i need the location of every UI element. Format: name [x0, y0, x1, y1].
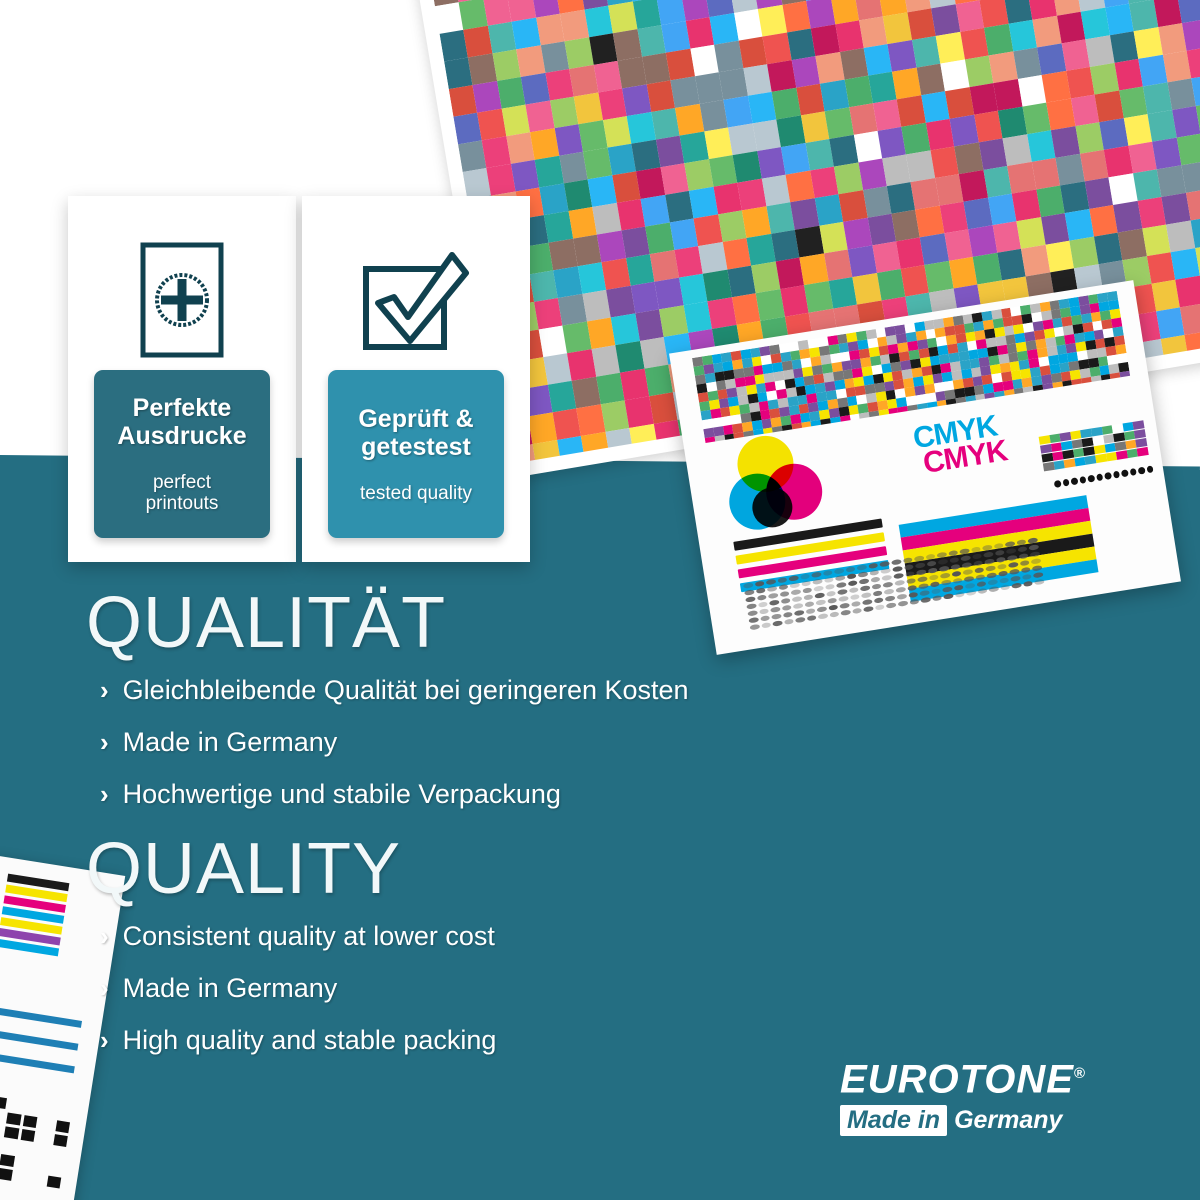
- bullet-item: › Consistent quality at lower cost: [100, 921, 966, 951]
- halftone-dot: [789, 575, 799, 581]
- small-block: [1137, 447, 1149, 457]
- badge-subtitle: perfect printouts: [146, 472, 219, 514]
- corner-block: [16, 1157, 31, 1170]
- halftone-dot: [880, 561, 890, 567]
- halftone-dot: [996, 557, 1006, 563]
- halftone-dot: [939, 566, 949, 572]
- corner-block: [57, 1106, 72, 1119]
- noise-patch: [1120, 371, 1130, 381]
- halftone-dot: [834, 568, 844, 574]
- bullet-text: Made in Germany: [123, 973, 338, 1003]
- product-marketing-banner: CMYK CMYK: [0, 0, 1200, 1200]
- halftone-dot: [989, 586, 999, 592]
- halftone-dot: [1032, 565, 1042, 571]
- dot: [1054, 480, 1062, 488]
- bullet-item: › Gleichbleibende Qualität bei geringere…: [100, 675, 966, 705]
- badge-title: Perfekte Ausdrucke: [117, 394, 246, 450]
- corner-block: [0, 1096, 7, 1109]
- corner-rule-3: [0, 1049, 75, 1073]
- color-swatch: [1165, 363, 1194, 395]
- halftone-dot: [1033, 572, 1043, 578]
- corner-block: [25, 1101, 40, 1114]
- halftone-dot: [891, 559, 901, 565]
- corner-rule-1: [0, 1004, 82, 1028]
- color-swatch: [1189, 359, 1200, 391]
- halftone-dot: [1011, 575, 1021, 581]
- halftone-dot: [940, 572, 950, 578]
- halftone-dot: [964, 576, 974, 582]
- halftone-dot: [824, 577, 834, 583]
- halftone-dot: [963, 569, 973, 575]
- halftone-dot: [1022, 574, 1032, 580]
- halftone-dot: [835, 575, 845, 581]
- dot: [1079, 476, 1087, 484]
- corner-block: [23, 1115, 38, 1128]
- corner-block: [32, 1159, 47, 1172]
- corner-block: [0, 1110, 5, 1123]
- halftone-dot: [903, 557, 913, 563]
- printed-page-registration-mark-icon: [139, 230, 225, 370]
- corner-block: [9, 1099, 24, 1112]
- halftone-dot: [1008, 562, 1018, 568]
- halftone-dot: [917, 576, 927, 582]
- checkbox-checkmark-icon: [360, 230, 472, 370]
- corner-rule-2: [0, 1026, 78, 1050]
- halftone-dot: [937, 552, 947, 558]
- chevron-right-icon: ›: [100, 973, 109, 1003]
- halftone-dot: [1030, 551, 1040, 557]
- corner-block: [2, 1140, 17, 1153]
- corner-block: [0, 1124, 3, 1137]
- chevron-right-icon: ›: [100, 675, 109, 705]
- halftone-dot: [881, 568, 891, 574]
- dot: [1062, 479, 1070, 487]
- eurotone-logo: EUROTONE® Made inGermany: [840, 1053, 1130, 1136]
- bullet-list-en: › Consistent quality at lower cost › Mad…: [100, 921, 966, 1055]
- badge-title-line2: Ausdrucke: [117, 422, 246, 450]
- dot: [1087, 475, 1095, 483]
- halftone-dot: [938, 559, 948, 565]
- dot: [1146, 465, 1154, 473]
- bullet-list-de: › Gleichbleibende Qualität bei geringere…: [100, 675, 966, 809]
- halftone-dot: [823, 570, 833, 576]
- corner-block: [51, 1148, 66, 1161]
- bullet-text: Consistent quality at lower cost: [123, 921, 495, 951]
- halftone-dot: [961, 555, 971, 561]
- halftone-dot: [929, 574, 939, 580]
- badge-subtitle-line2: printouts: [146, 493, 219, 514]
- feature-card-perfect-printouts[interactable]: Perfekte Ausdrucke perfect printouts: [68, 196, 296, 562]
- corner-block: [0, 1138, 1, 1151]
- halftone-dot: [995, 550, 1005, 556]
- halftone-dot: [916, 569, 926, 575]
- feature-card-row: Perfekte Ausdrucke perfect printouts Gep…: [68, 196, 530, 562]
- bullet-item: › Hochwertige und stabile Verpackung: [100, 779, 966, 809]
- bullet-text: Gleichbleibende Qualität bei geringeren …: [123, 675, 689, 705]
- halftone-dot: [906, 578, 916, 584]
- halftone-dot: [1016, 539, 1026, 545]
- halftone-dot: [998, 570, 1008, 576]
- halftone-dot: [1021, 567, 1031, 573]
- quality-section-english: QUALITY › Consistent quality at lower co…: [86, 831, 966, 1055]
- halftone-dot: [1009, 569, 1019, 575]
- halftone-dot: [1012, 582, 1022, 588]
- corner-block: [53, 1134, 68, 1147]
- dot: [1129, 468, 1137, 476]
- corner-block: [0, 1168, 13, 1181]
- cmyk-label-group: CMYK CMYK: [911, 412, 1008, 477]
- bullet-item: › High quality and stable packing: [100, 1025, 966, 1055]
- halftone-dot: [976, 581, 986, 587]
- corner-block: [20, 1129, 35, 1142]
- halftone-dot: [1005, 541, 1015, 547]
- halftone-dot: [800, 573, 810, 579]
- quality-section-german: QUALITÄT › Gleichbleibende Qualität bei …: [86, 585, 966, 809]
- halftone-dot: [812, 579, 822, 585]
- logo-tagline-boxed: Made in: [840, 1105, 947, 1136]
- halftone-dot: [1006, 548, 1016, 554]
- color-swatch: [1194, 386, 1200, 418]
- badge-title: Geprüft & getestest: [358, 405, 473, 461]
- halftone-dot: [905, 571, 915, 577]
- halftone-dot: [959, 548, 969, 554]
- quality-text-block: QUALITÄT › Gleichbleibende Qualität bei …: [86, 585, 966, 1077]
- halftone-dot: [965, 583, 975, 589]
- halftone-dot: [893, 573, 903, 579]
- halftone-dot: [950, 564, 960, 570]
- halftone-dot: [1028, 537, 1038, 543]
- halftone-dot: [1034, 579, 1044, 585]
- halftone-dot: [975, 574, 985, 580]
- corner-block: [6, 1113, 21, 1126]
- corner-block: [48, 1162, 63, 1175]
- halftone-dot: [952, 578, 962, 584]
- section-heading-en: QUALITY: [86, 831, 966, 907]
- badge-subtitle: tested quality: [360, 483, 472, 504]
- halftone-dot: [882, 575, 892, 581]
- halftone-dot: [962, 562, 972, 568]
- corner-block: [46, 1176, 61, 1189]
- halftone-dot: [869, 569, 879, 575]
- test-sheet-small-blocks: [1039, 420, 1150, 474]
- halftone-dot: [1020, 560, 1030, 566]
- corner-block: [41, 1104, 56, 1117]
- chevron-right-icon: ›: [100, 921, 109, 951]
- halftone-dot: [1007, 555, 1017, 561]
- dot: [1070, 477, 1078, 485]
- halftone-dot: [988, 579, 998, 585]
- dot: [1138, 467, 1146, 475]
- halftone-dot: [1023, 581, 1033, 587]
- halftone-dot: [915, 562, 925, 568]
- halftone-dot: [858, 571, 868, 577]
- logo-tagline: Made inGermany: [840, 1105, 1062, 1136]
- color-swatch: [1176, 134, 1200, 166]
- corner-block: [14, 1170, 29, 1183]
- corner-sheet-blocks: [0, 1091, 72, 1189]
- color-swatch: [1185, 331, 1200, 363]
- badge-title-line2: getestest: [361, 433, 471, 461]
- dot: [1104, 472, 1112, 480]
- halftone-dot: [977, 588, 987, 594]
- halftone-dot: [949, 557, 959, 563]
- halftone-dot: [971, 546, 981, 552]
- feature-card-tested-quality[interactable]: Geprüft & getestest tested quality: [302, 196, 530, 562]
- color-swatch: [1181, 161, 1200, 193]
- feature-badge-perfect-printouts: Perfekte Ausdrucke perfect printouts: [94, 370, 270, 538]
- halftone-dot: [982, 545, 992, 551]
- corner-block: [18, 1143, 33, 1156]
- feature-badge-tested-quality: Geprüft & getestest tested quality: [328, 370, 504, 538]
- corner-block: [0, 1154, 15, 1167]
- halftone-dot: [811, 572, 821, 578]
- logo-tagline-plain: Germany: [947, 1105, 1062, 1136]
- halftone-dot: [868, 563, 878, 569]
- halftone-dot: [846, 566, 856, 572]
- halftone-dot: [983, 551, 993, 557]
- halftone-dot: [987, 572, 997, 578]
- bullet-text: Hochwertige und stabile Verpackung: [123, 779, 561, 809]
- color-swatch: [1180, 303, 1200, 335]
- bullet-text: High quality and stable packing: [123, 1025, 497, 1055]
- corner-sheet-bars: [0, 874, 69, 960]
- dot: [1096, 473, 1104, 481]
- color-swatch: [1170, 390, 1199, 422]
- halftone-dot: [1019, 553, 1029, 559]
- corner-block: [37, 1131, 52, 1144]
- halftone-dot: [984, 558, 994, 564]
- chevron-right-icon: ›: [100, 727, 109, 757]
- halftone-dot: [847, 573, 857, 579]
- halftone-dot: [926, 560, 936, 566]
- halftone-dot: [994, 543, 1004, 549]
- halftone-dot: [859, 578, 869, 584]
- corner-block: [39, 1118, 54, 1131]
- halftone-dot: [1029, 544, 1039, 550]
- halftone-dot: [871, 576, 881, 582]
- logo-brand-name: EUROTONE®: [840, 1053, 1130, 1100]
- halftone-dot: [972, 553, 982, 559]
- corner-sheet-rules: [0, 1004, 82, 1089]
- halftone-dot: [999, 577, 1009, 583]
- halftone-dot: [927, 567, 937, 573]
- halftone-dot: [904, 564, 914, 570]
- bullet-item: › Made in Germany: [100, 973, 966, 1003]
- badge-title-line1: Perfekte: [133, 394, 232, 422]
- halftone-dot: [966, 590, 976, 596]
- badge-subtitle-line1: tested quality: [360, 483, 472, 504]
- dot: [1121, 469, 1129, 477]
- corner-block: [55, 1120, 70, 1133]
- corner-block: [34, 1145, 49, 1158]
- halftone-dot: [777, 577, 787, 583]
- halftone-dot: [973, 560, 983, 566]
- halftone-dot: [948, 550, 958, 556]
- corner-block: [4, 1126, 19, 1139]
- halftone-dot: [1000, 584, 1010, 590]
- halftone-dot: [1031, 558, 1041, 564]
- cmyk-ink-circles: [720, 426, 842, 542]
- halftone-dot: [1018, 546, 1028, 552]
- halftone-dot: [997, 563, 1007, 569]
- bullet-text: Made in Germany: [123, 727, 338, 757]
- registered-trademark-icon: ®: [1074, 1065, 1086, 1082]
- color-swatch: [1175, 276, 1200, 308]
- halftone-dot: [986, 565, 996, 571]
- halftone-dot: [925, 554, 935, 560]
- halftone-dot: [951, 571, 961, 577]
- chevron-right-icon: ›: [100, 1025, 109, 1055]
- section-heading-de: QUALITÄT: [86, 585, 966, 661]
- dot: [1112, 471, 1120, 479]
- badge-subtitle-line1: perfect: [153, 472, 211, 493]
- halftone-dot: [892, 566, 902, 572]
- logo-brand-text: EUROTONE: [840, 1057, 1074, 1101]
- bullet-item: › Made in Germany: [100, 727, 966, 757]
- badge-title-line1: Geprüft &: [358, 405, 473, 433]
- halftone-dot: [974, 567, 984, 573]
- halftone-dot: [914, 555, 924, 561]
- halftone-dot: [857, 564, 867, 570]
- corner-block: [30, 1173, 45, 1186]
- chevron-right-icon: ›: [100, 779, 109, 809]
